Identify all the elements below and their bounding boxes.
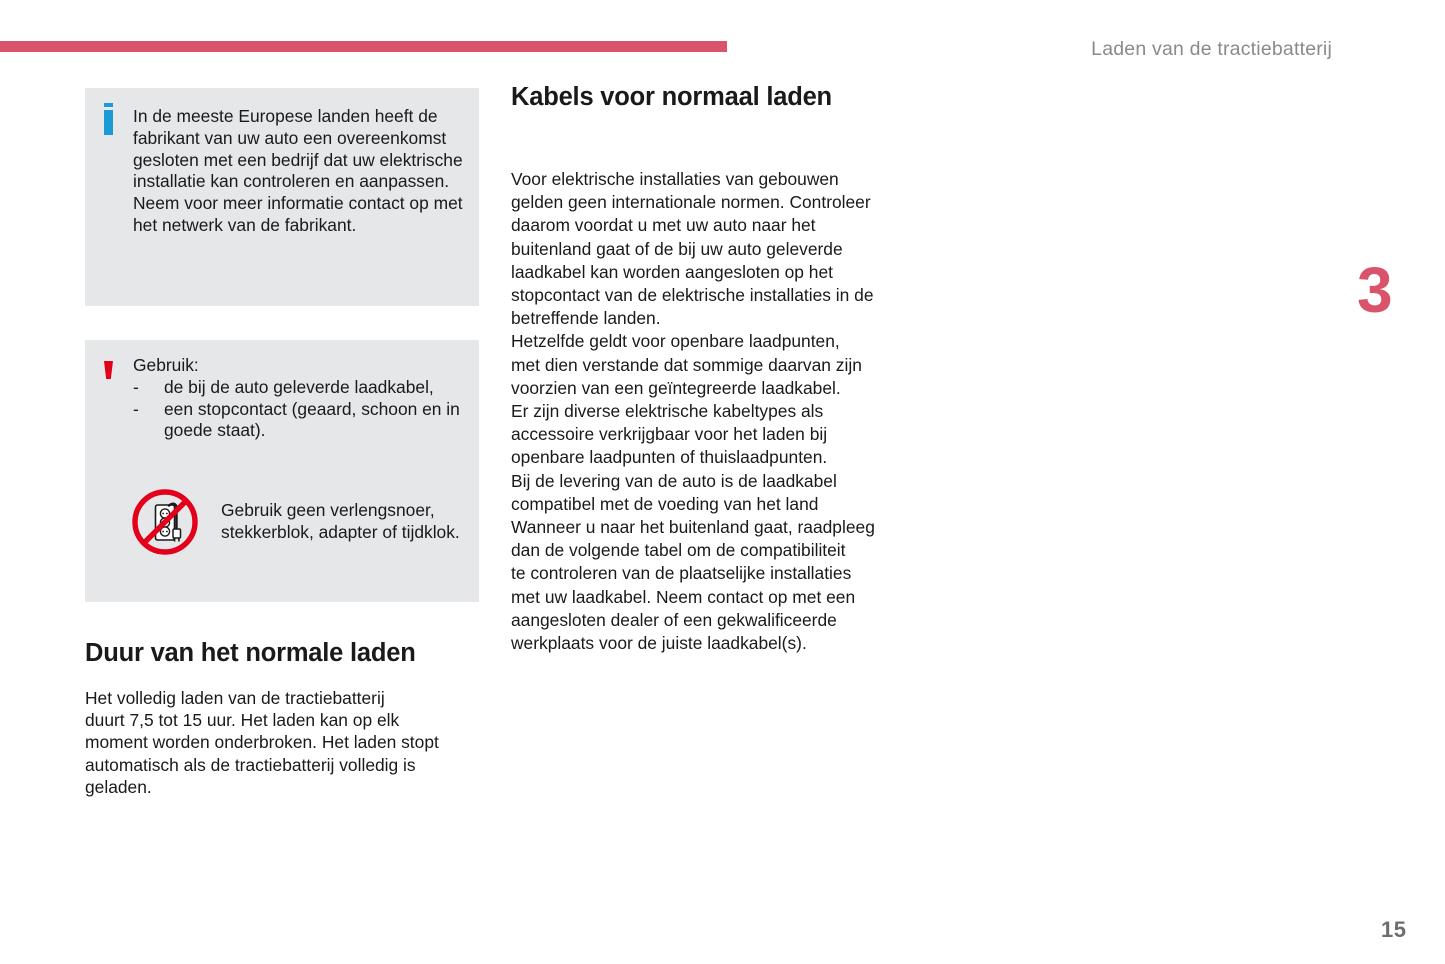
- info-i-icon: [104, 110, 113, 135]
- section-heading-duur: Duur van het normale laden: [85, 638, 479, 668]
- left-column: In de meeste Europese landen heeft de fa…: [85, 88, 479, 798]
- info-notice-text: In de meeste Europese landen heeft de fa…: [133, 106, 463, 237]
- list-dash: -: [133, 399, 164, 443]
- page-header-title: Laden van de tractiebatterij: [1091, 38, 1332, 61]
- list-item: - de bij de auto geleverde laadkabel,: [133, 377, 463, 399]
- right-column: Kabels voor normaal laden Voor elektrisc…: [511, 82, 911, 655]
- warning-content: Gebruik: - de bij de auto geleverde laad…: [133, 355, 463, 442]
- header-accent-rule: [0, 41, 727, 52]
- list-item-text: een stopcontact (geaard, schoon en in go…: [164, 399, 463, 443]
- warning-icon-cell: [101, 355, 133, 379]
- info-icon-cell: [101, 106, 133, 135]
- warning-notice-box: Gebruik: - de bij de auto geleverde laad…: [85, 340, 479, 602]
- info-notice-box: In de meeste Europese landen heeft de fa…: [85, 88, 479, 306]
- section-body-kabels: Voor elektrische installaties van gebouw…: [511, 168, 911, 655]
- exclamation-icon: [104, 361, 113, 379]
- list-dash: -: [133, 377, 164, 399]
- info-notice-row: In de meeste Europese landen heeft de fa…: [101, 106, 463, 237]
- warning-item-list: - de bij de auto geleverde laadkabel, - …: [133, 377, 463, 442]
- chapter-number: 3: [1357, 258, 1393, 322]
- prohibition-text: Gebruik geen verlengsnoer, stekkerblok, …: [221, 500, 463, 544]
- warning-title: Gebruik:: [133, 355, 463, 377]
- page-number: 15: [1381, 917, 1406, 943]
- warning-notice-row: Gebruik: - de bij de auto geleverde laad…: [101, 355, 463, 442]
- prohibition-row: Gebruik geen verlengsnoer, stekkerblok, …: [101, 488, 463, 556]
- list-item: - een stopcontact (geaard, schoon en in …: [133, 399, 463, 443]
- list-item-text: de bij de auto geleverde laadkabel,: [164, 377, 463, 399]
- no-power-strip-icon: [131, 488, 199, 556]
- section-heading-kabels: Kabels voor normaal laden: [511, 82, 911, 112]
- section-body-duur: Het volledig laden van de tractiebatteri…: [85, 687, 479, 798]
